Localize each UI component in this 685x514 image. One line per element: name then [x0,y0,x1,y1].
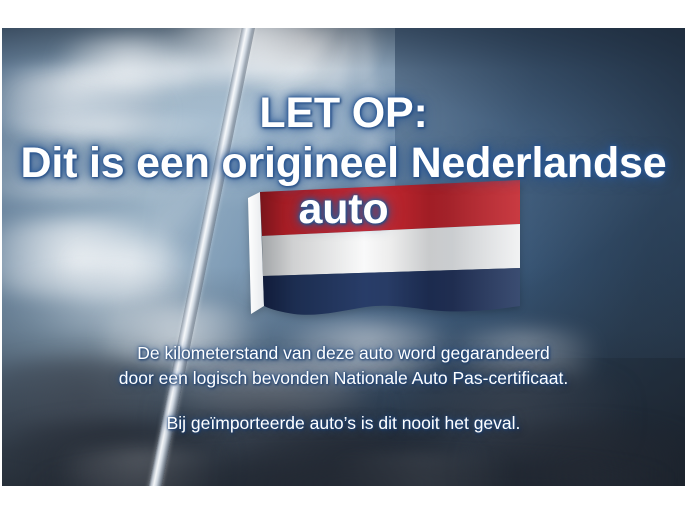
screenshot-root: LET OP: Dit is een origineel Nederlandse… [0,0,685,514]
headline-line-2: Dit is een origineel Nederlandse auto [2,140,685,232]
headline-line-1: LET OP: [2,90,685,136]
flag-photo: LET OP: Dit is een origineel Nederlandse… [2,28,685,486]
body-line-3: Bij geïmporteerde auto’s is dit nooit he… [2,411,685,436]
body-line-2: door een logisch bevonden Nationale Auto… [2,366,685,391]
body-line-1: De kilometerstand van deze auto word geg… [2,341,685,366]
